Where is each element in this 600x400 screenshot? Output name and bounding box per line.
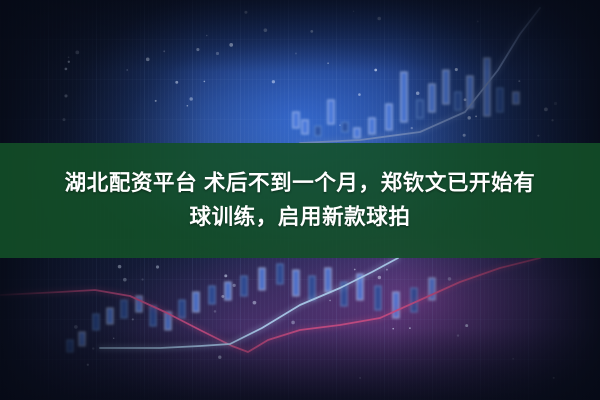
headline-line-2: 球训练，启用新款球拍 — [189, 204, 410, 232]
banner-image: 湖北配资平台 术后不到一个月，郑钦文已开始有 球训练，启用新款球拍 — [0, 0, 600, 400]
headline-band: 湖北配资平台 术后不到一个月，郑钦文已开始有 球训练，启用新款球拍 — [0, 143, 600, 258]
headline-line-1: 湖北配资平台 术后不到一个月，郑钦文已开始有 — [65, 170, 536, 198]
